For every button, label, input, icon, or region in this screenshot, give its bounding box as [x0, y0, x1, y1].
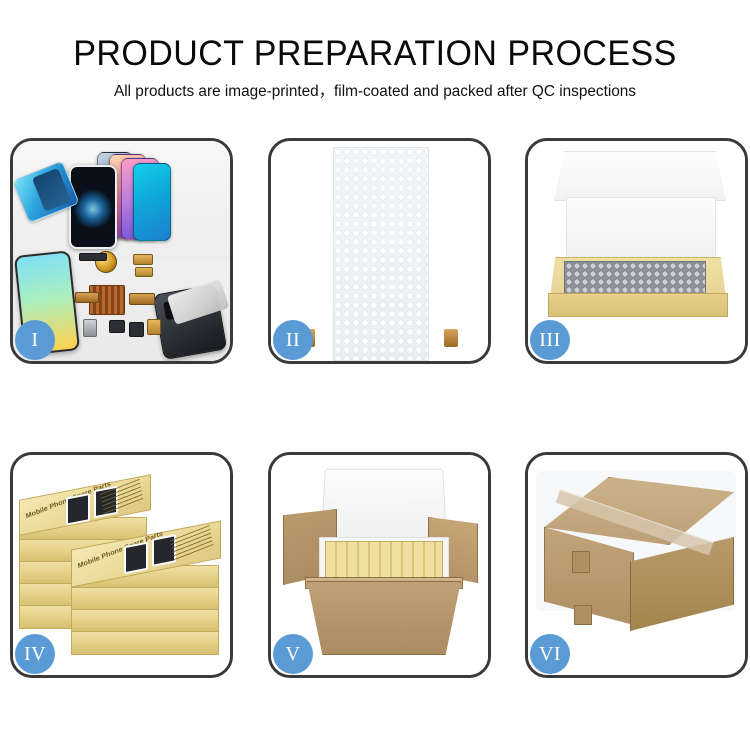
step-badge-6: VI — [530, 634, 570, 674]
step-badge-1: I — [15, 320, 55, 360]
step-badge-3: III — [530, 320, 570, 360]
small-part-5 — [83, 319, 97, 337]
header: PRODUCT PREPARATION PROCESS All products… — [0, 0, 750, 120]
small-part-2 — [133, 254, 153, 265]
page-subtitle: All products are image-printed，film-coat… — [4, 74, 747, 101]
box-lid-open — [554, 151, 726, 201]
small-part-1 — [79, 253, 107, 261]
step-badge-2: II — [273, 320, 313, 360]
box-window-upper-1 — [66, 493, 90, 526]
bubble-wrap-bag — [333, 147, 429, 361]
small-part-7 — [147, 319, 161, 335]
stacked-box-r3 — [71, 609, 219, 633]
foam-lid — [321, 469, 447, 539]
connector-right — [444, 329, 458, 347]
phone-device-1 — [133, 163, 171, 241]
small-part-4 — [109, 320, 125, 333]
page-title: PRODUCT PREPARATION PROCESS — [11, 0, 739, 74]
foam-sheet — [566, 197, 716, 265]
process-step-card-6: VI — [525, 452, 748, 678]
phone-front-screen — [69, 165, 117, 249]
stacked-box-r4 — [71, 631, 219, 655]
small-part-3 — [135, 267, 153, 277]
step-badge-4: IV — [15, 634, 55, 674]
flex-cable-1 — [75, 292, 99, 303]
small-part-6 — [129, 322, 144, 337]
stacked-box-r2 — [71, 587, 219, 611]
carton-body — [307, 581, 461, 655]
process-step-card-3: III — [525, 138, 748, 364]
process-step-card-5: V — [268, 452, 491, 678]
bubble-wrapped-contents — [564, 261, 706, 297]
box-stack: Mobile Phone Spare Parts Mobile Phone Sp… — [17, 473, 230, 659]
product-preparation-infographic: PRODUCT PREPARATION PROCESS All products… — [0, 0, 750, 750]
process-step-card-1: I — [10, 138, 233, 364]
process-step-grid: I II — [10, 138, 748, 683]
kraft-box-front-panel — [548, 293, 728, 317]
process-step-card-4: Mobile Phone Spare Parts Mobile Phone Sp… — [10, 452, 233, 678]
carton-tape-tab-1 — [572, 551, 590, 573]
process-step-card-2: II — [268, 138, 491, 364]
box-spec-list-lower — [170, 525, 214, 563]
step-badge-5: V — [273, 634, 313, 674]
carton-tape-tab-2 — [574, 605, 592, 625]
flex-cable-2 — [129, 293, 155, 305]
box-window-lower-1 — [124, 542, 148, 575]
